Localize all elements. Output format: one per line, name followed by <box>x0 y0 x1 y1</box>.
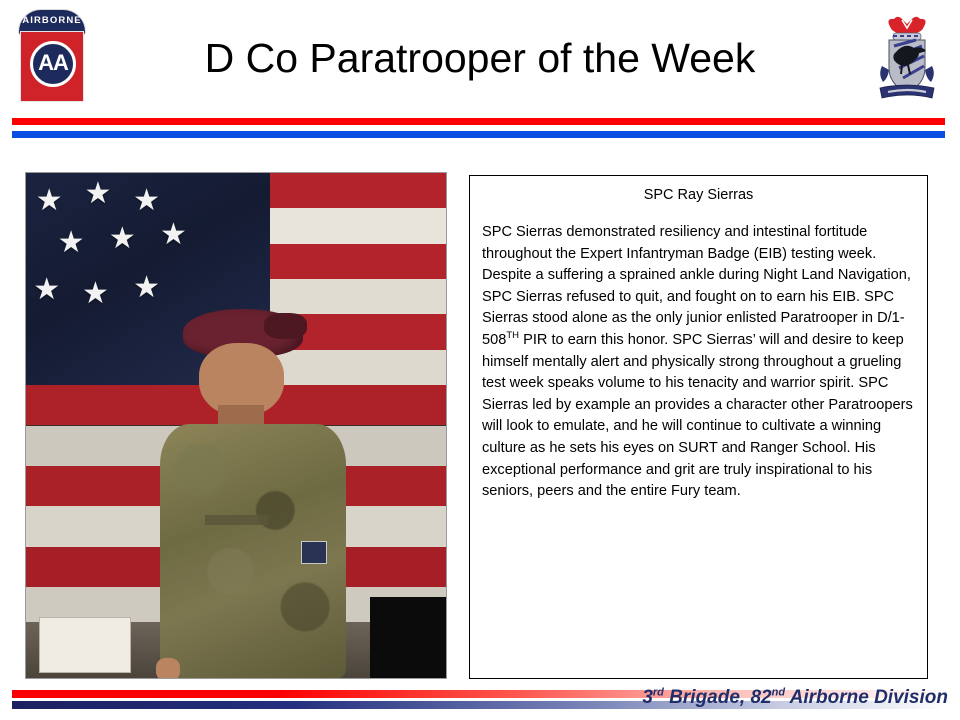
airborne-tab-label: AIRBORNE <box>19 15 85 26</box>
dark-corner <box>370 597 446 678</box>
soldier-hand <box>156 658 180 679</box>
citation-text-part-1: SPC Sierras demonstrated resiliency and … <box>482 224 911 348</box>
header-stripe-blue <box>12 131 945 138</box>
soldier-figure <box>156 309 349 678</box>
footer-text-1: 3 <box>642 687 653 708</box>
shoulder-aa-patch <box>301 541 327 564</box>
unit-distinctive-insignia-icon <box>872 8 942 106</box>
soldier-name-heading: SPC Ray Sierras <box>482 185 915 205</box>
beret-flash <box>264 313 307 339</box>
slide-canvas: AIRBORNE AA D Co Paratrooper of the Week <box>0 0 960 720</box>
footer-text-3: Airborne Division <box>785 687 948 708</box>
footer-text-2: Brigade, 82 <box>664 687 772 708</box>
citation-textbox: SPC Ray Sierras SPC Sierras demonstrated… <box>469 175 928 679</box>
header-stripe-red <box>12 118 945 125</box>
slide-title: D Co Paratrooper of the Week <box>110 33 850 83</box>
ocp-uniform <box>160 424 345 678</box>
footer-sup-rd: rd <box>653 687 664 699</box>
patch-aa-label: AA <box>33 52 73 74</box>
citation-ordinal-suffix: TH <box>506 330 519 341</box>
footer-sup-nd: nd <box>772 687 785 699</box>
citation-text-part-2: PIR to earn this honor. SPC Sierras’ wil… <box>482 332 913 499</box>
paratrooper-photo: ★ ★ ★ ★ ★ ★ ★ ★ ★ <box>25 172 447 679</box>
patch-blue-circle: AA <box>30 41 76 87</box>
wall-paper-sign <box>39 617 131 673</box>
footer-unit-label: 3rd Brigade, 82nd Airborne Division <box>560 686 948 710</box>
us-army-name-tape <box>205 515 268 525</box>
82nd-airborne-division-patch-icon: AIRBORNE AA <box>18 9 86 104</box>
citation-body: SPC Sierras demonstrated resiliency and … <box>482 222 915 503</box>
patch-red-field: AA <box>20 31 84 102</box>
